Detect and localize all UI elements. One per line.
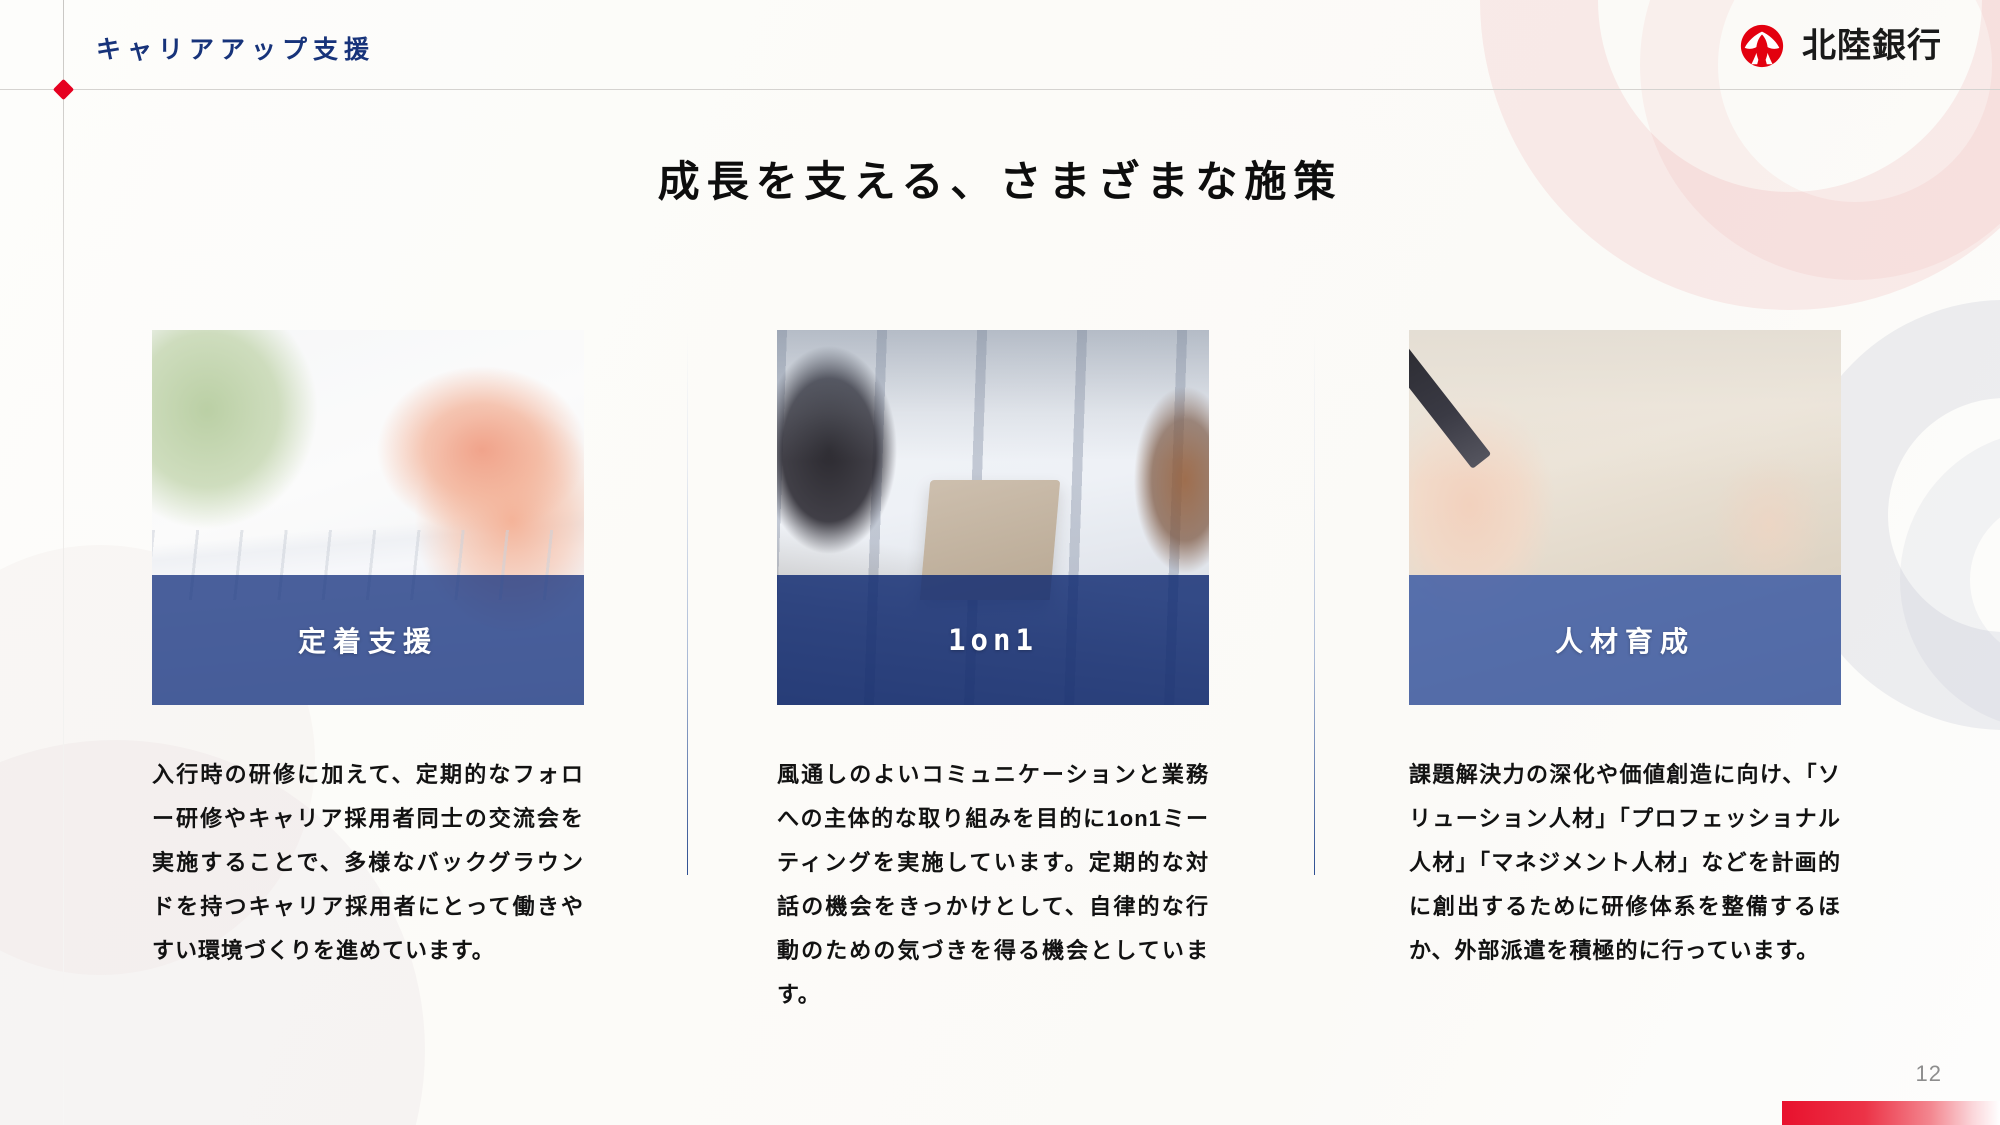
brand-logo-text: 北陸銀行 [1802,29,1942,63]
column-divider-2 [1314,330,1315,875]
card-body-text: 入行時の研修に加えて、定期的なフォロー研修やキャリア採用者同士の交流会を実施する… [152,753,584,973]
card-label: 定着支援 [298,620,438,660]
section-label: キャリアアップ支援 [96,30,375,66]
card-label-overlay: 1on1 [777,575,1209,705]
card-body-text: 課題解決力の深化や価値創造に向け、「ソリューション人材」「プロフェッショナル人材… [1409,753,1841,973]
card-body-text: 風通しのよいコミュニケーションと業務への主体的な取り組みを目的に1on1ミーティ… [777,753,1209,1017]
column-divider-1 [687,330,688,875]
card-1on1: 1on1 風通しのよいコミュニケーションと業務への主体的な取り組みを目的に1on… [777,330,1209,1017]
card-figure: 1on1 [777,330,1209,705]
card-label-overlay: 定着支援 [152,575,584,705]
slide-header: キャリアアップ支援 北陸銀行 [0,0,2000,90]
card-figure: 人材育成 [1409,330,1841,705]
card-jinzai-ikusei: 人材育成 課題解決力の深化や価値創造に向け、「ソリューション人材」「プロフェッシ… [1409,330,1841,973]
card-label: 人材育成 [1555,620,1695,660]
page-title: 成長を支える、さまざまな施策 [0,148,2000,209]
footer-accent-bar [1782,1101,2000,1125]
header-divider [0,89,2000,90]
hokuriku-bank-mark-icon [1738,22,1786,70]
page-number: 12 [1916,1061,1942,1087]
card-label: 1on1 [948,623,1038,657]
slide: キャリアアップ支援 北陸銀行 成長を支える、さまざまな施策 定着支援 [0,0,2000,1125]
card-teichaku-shien: 定着支援 入行時の研修に加えて、定期的なフォロー研修やキャリア採用者同士の交流会… [152,330,584,973]
decorative-ring-gray-inner [1900,430,2000,730]
card-figure: 定着支援 [152,330,584,705]
card-label-overlay: 人材育成 [1409,575,1841,705]
brand-logo: 北陸銀行 [1738,22,1942,70]
